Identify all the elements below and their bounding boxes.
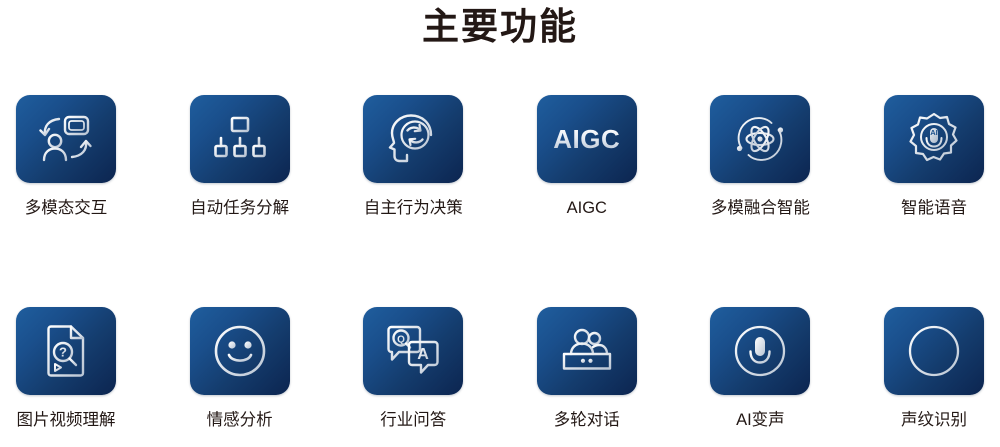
feature-tile[interactable]	[363, 95, 463, 183]
svg-text:?: ?	[59, 345, 67, 360]
feature-grid: 多模态交互	[16, 95, 984, 431]
feature-label: 智能语音	[901, 197, 967, 219]
feature-tile[interactable]: AI	[884, 95, 984, 183]
feature-label: 情感分析	[207, 409, 273, 431]
feature-label: 行业问答	[380, 409, 446, 431]
feature-label: 声纹识别	[901, 409, 967, 431]
feature-overview-page: 主要功能	[0, 0, 1000, 447]
feature-tile[interactable]	[710, 307, 810, 395]
ai-voice-change-icon	[733, 324, 787, 378]
svg-text:AI: AI	[930, 128, 938, 137]
feature-item-multimodal-interaction[interactable]: 多模态交互	[16, 95, 116, 219]
feature-label: 多轮对话	[554, 409, 620, 431]
feature-item-multimodal-fusion[interactable]: 多模融合智能	[710, 95, 810, 219]
voiceprint-recognition-icon	[907, 324, 961, 378]
feature-label: 多模融合智能	[711, 197, 810, 219]
multi-turn-dialogue-icon	[559, 328, 615, 374]
task-decomposition-icon	[214, 115, 266, 163]
feature-label: 图片视频理解	[17, 409, 116, 431]
feature-row: ? 图片视频理解	[16, 307, 984, 431]
feature-tile[interactable]	[884, 307, 984, 395]
multimodal-fusion-icon	[733, 112, 787, 166]
multimodal-interaction-icon	[39, 113, 93, 165]
feature-tile[interactable]	[190, 95, 290, 183]
feature-item-autonomous-decision[interactable]: 自主行为决策	[363, 95, 463, 219]
feature-tile[interactable]	[16, 95, 116, 183]
feature-label: 自主行为决策	[364, 197, 463, 219]
sentiment-analysis-icon	[213, 324, 267, 378]
image-video-understanding-icon: ?	[43, 324, 89, 378]
feature-item-voiceprint-recognition[interactable]: 声纹识别	[884, 307, 984, 431]
feature-item-image-video-understanding[interactable]: ? 图片视频理解	[16, 307, 116, 431]
svg-text:A: A	[417, 346, 429, 363]
autonomous-decision-icon	[387, 113, 439, 165]
feature-item-multi-turn-dialogue[interactable]: 多轮对话	[537, 307, 637, 431]
feature-tile[interactable]: ?	[16, 307, 116, 395]
smart-voice-icon: AI	[907, 112, 961, 166]
feature-item-industry-qa[interactable]: Q A 行业问答	[363, 307, 463, 431]
feature-item-ai-voice-change[interactable]: AI变声	[710, 307, 810, 431]
feature-label: 多模态交互	[25, 197, 108, 219]
feature-item-aigc[interactable]: AIGC AIGC	[537, 95, 637, 219]
feature-item-task-decomposition[interactable]: 自动任务分解	[190, 95, 290, 219]
feature-tile[interactable]	[537, 307, 637, 395]
feature-item-smart-voice[interactable]: AI 智能语音	[884, 95, 984, 219]
feature-item-sentiment-analysis[interactable]: 情感分析	[190, 307, 290, 431]
feature-row: 多模态交互	[16, 95, 984, 219]
svg-text:Q: Q	[397, 335, 405, 346]
feature-tile[interactable]	[710, 95, 810, 183]
feature-label: AI变声	[736, 409, 785, 431]
feature-label: 自动任务分解	[190, 197, 289, 219]
industry-qa-icon: Q A	[385, 325, 441, 377]
aigc-icon: AIGC	[553, 126, 620, 152]
page-title: 主要功能	[0, 2, 1000, 52]
feature-tile[interactable]: AIGC	[537, 95, 637, 183]
feature-tile[interactable]	[190, 307, 290, 395]
feature-tile[interactable]: Q A	[363, 307, 463, 395]
feature-label: AIGC	[567, 197, 607, 219]
